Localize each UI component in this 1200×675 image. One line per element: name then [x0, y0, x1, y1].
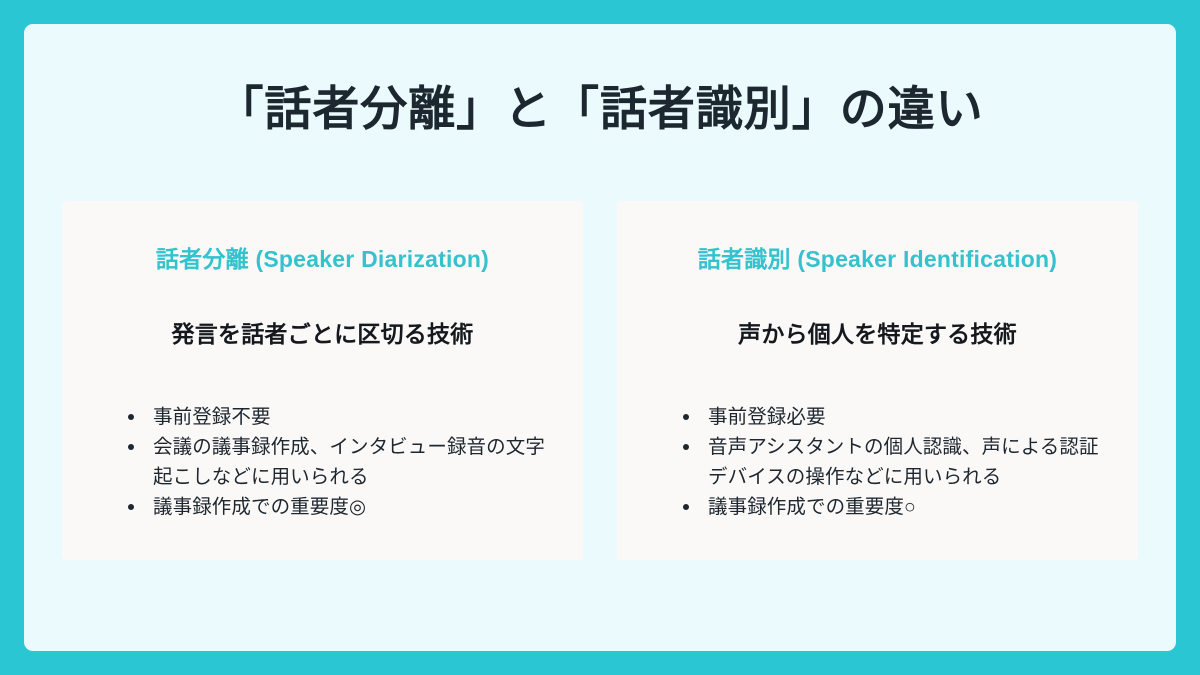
card-heading: 話者分離 (Speaker Diarization): [156, 245, 489, 275]
bullet-dot-icon: [683, 414, 689, 420]
card-subtitle: 発言を話者ごとに区切る技術: [172, 319, 474, 350]
list-item: 音声アシスタントの個人認識、声による認証デバイスの操作などに用いられる: [681, 432, 1112, 492]
list-item: 事前登録不要: [126, 402, 557, 432]
list-item: 事前登録必要: [681, 402, 1112, 432]
slide-panel: 「話者分離」と「話者識別」の違い 話者分離 (Speaker Diarizati…: [24, 24, 1176, 651]
comparison-cards: 話者分離 (Speaker Diarization) 発言を話者ごとに区切る技術…: [62, 201, 1138, 560]
bullet-list: 事前登録必要 音声アシスタントの個人認識、声による認証デバイスの操作などに用いら…: [643, 402, 1112, 522]
page-title: 「話者分離」と「話者識別」の違い: [216, 24, 983, 139]
list-item: 議事録作成での重要度◎: [126, 492, 557, 522]
list-item: 議事録作成での重要度○: [681, 492, 1112, 522]
card-speaker-diarization: 話者分離 (Speaker Diarization) 発言を話者ごとに区切る技術…: [62, 201, 583, 560]
list-item-label: 音声アシスタントの個人認識、声による認証デバイスの操作などに用いられる: [708, 432, 1112, 492]
list-item-label: 事前登録必要: [708, 402, 1112, 432]
list-item-label: 会議の議事録作成、インタビュー録音の文字起こしなどに用いられる: [153, 432, 557, 492]
bullet-dot-icon: [128, 504, 134, 510]
bullet-dot-icon: [683, 504, 689, 510]
card-heading: 話者識別 (Speaker Identification): [698, 245, 1057, 275]
bullet-dot-icon: [683, 444, 689, 450]
slide-root: 「話者分離」と「話者識別」の違い 話者分離 (Speaker Diarizati…: [0, 0, 1200, 675]
list-item-label: 事前登録不要: [153, 402, 557, 432]
bullet-dot-icon: [128, 444, 134, 450]
bullet-dot-icon: [128, 414, 134, 420]
bullet-list: 事前登録不要 会議の議事録作成、インタビュー録音の文字起こしなどに用いられる 議…: [88, 402, 557, 522]
card-speaker-identification: 話者識別 (Speaker Identification) 声から個人を特定する…: [617, 201, 1138, 560]
list-item: 会議の議事録作成、インタビュー録音の文字起こしなどに用いられる: [126, 432, 557, 492]
list-item-label: 議事録作成での重要度○: [708, 492, 1112, 522]
card-subtitle: 声から個人を特定する技術: [738, 319, 1017, 350]
list-item-label: 議事録作成での重要度◎: [153, 492, 557, 522]
